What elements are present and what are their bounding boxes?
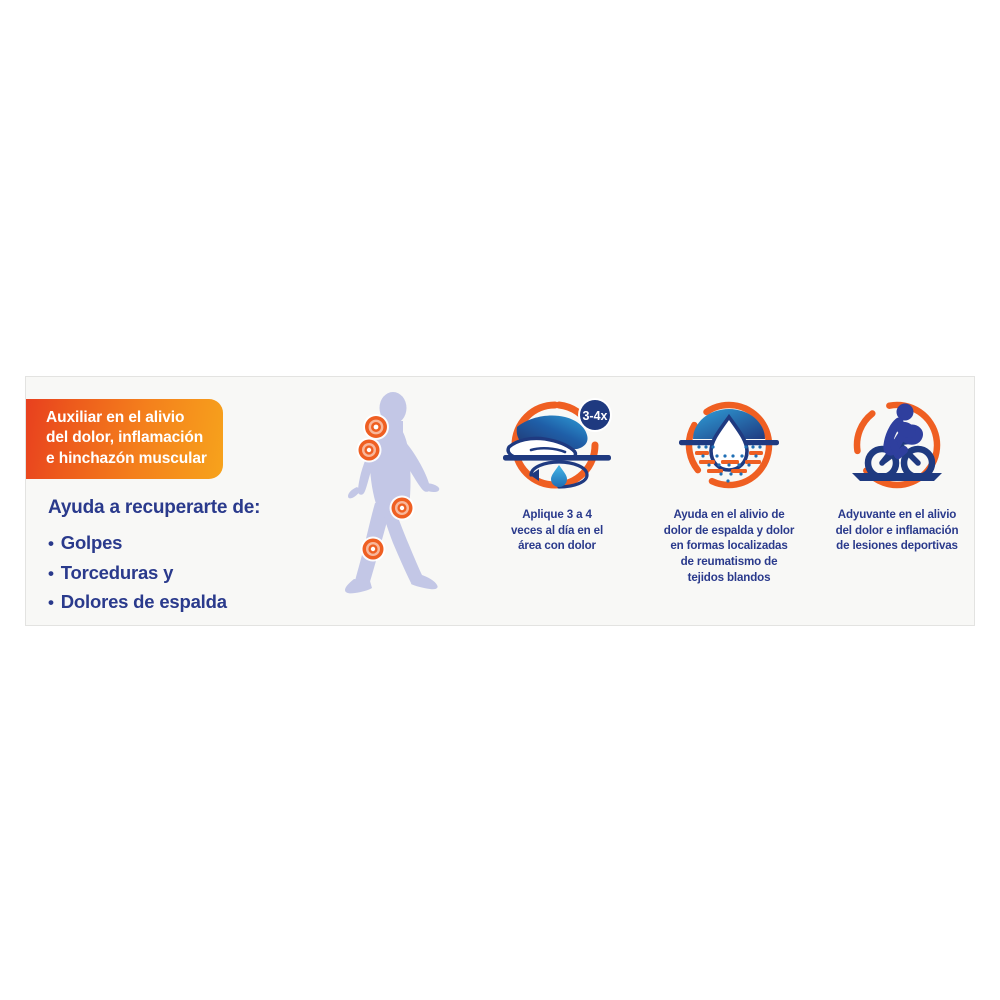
bullet-dot-icon: •: [48, 594, 54, 611]
frequency-badge-label: 3-4x: [582, 409, 607, 423]
feature-caption: Ayuda en el alivio de dolor de espalda y…: [646, 507, 812, 585]
cyclist-sports-icon: [838, 395, 956, 499]
list-item-label: Golpes: [61, 528, 123, 557]
bullet-dot-icon: •: [48, 565, 54, 582]
feature-caption: Aplique 3 a 4 veces al día en el área co…: [474, 507, 640, 554]
bullet-dot-icon: •: [48, 535, 54, 552]
list-item-label: Torceduras y: [61, 558, 173, 587]
pain-marker-icon: [390, 496, 415, 521]
list-item: • Dolores de espalda: [48, 587, 336, 616]
feature-icon-wrapper: 3-4x: [474, 395, 640, 499]
pain-marker-icon: [363, 414, 389, 440]
droplet-skin-penetration-icon: [673, 395, 785, 499]
list-item: • Golpes: [48, 528, 336, 557]
pain-marker-icon: [361, 537, 386, 562]
feature-back-pain-relief: Ayuda en el alivio de dolor de espalda y…: [646, 395, 812, 585]
feature-icon-wrapper: [814, 395, 980, 499]
list-item-label: Dolores de espalda: [61, 587, 227, 616]
left-text-column: Auxiliar en el alivio del dolor, inflama…: [46, 399, 336, 616]
list-item: • Torceduras y: [48, 558, 336, 587]
walking-person-illustration: [331, 391, 466, 606]
banner-inner-surface: Auxiliar en el alivio del dolor, inflama…: [26, 377, 974, 625]
feature-caption: Adyuvante en el alivio del dolor e infla…: [814, 507, 980, 554]
walking-person-silhouette-icon: [331, 391, 466, 606]
product-benefits-banner: Auxiliar en el alivio del dolor, inflama…: [25, 376, 975, 626]
recovery-heading: Ayuda a recuperarte de:: [48, 497, 336, 519]
conditions-list: • Golpes • Torceduras y • Dolores de esp…: [48, 528, 336, 616]
screenshot-root: Auxiliar en el alivio del dolor, inflama…: [0, 0, 1000, 1000]
hand-applying-cream-icon: 3-4x: [497, 395, 617, 499]
feature-sports-injury: Adyuvante en el alivio del dolor e infla…: [814, 395, 980, 554]
pain-marker-icon: [357, 438, 382, 463]
feature-apply-frequency: 3-4x Aplique 3 a 4 veces al día en el ár…: [474, 395, 640, 554]
feature-columns: 3-4x Aplique 3 a 4 veces al día en el ár…: [474, 395, 974, 610]
indication-badge: Auxiliar en el alivio del dolor, inflama…: [26, 399, 223, 479]
feature-icon-wrapper: [646, 395, 812, 499]
